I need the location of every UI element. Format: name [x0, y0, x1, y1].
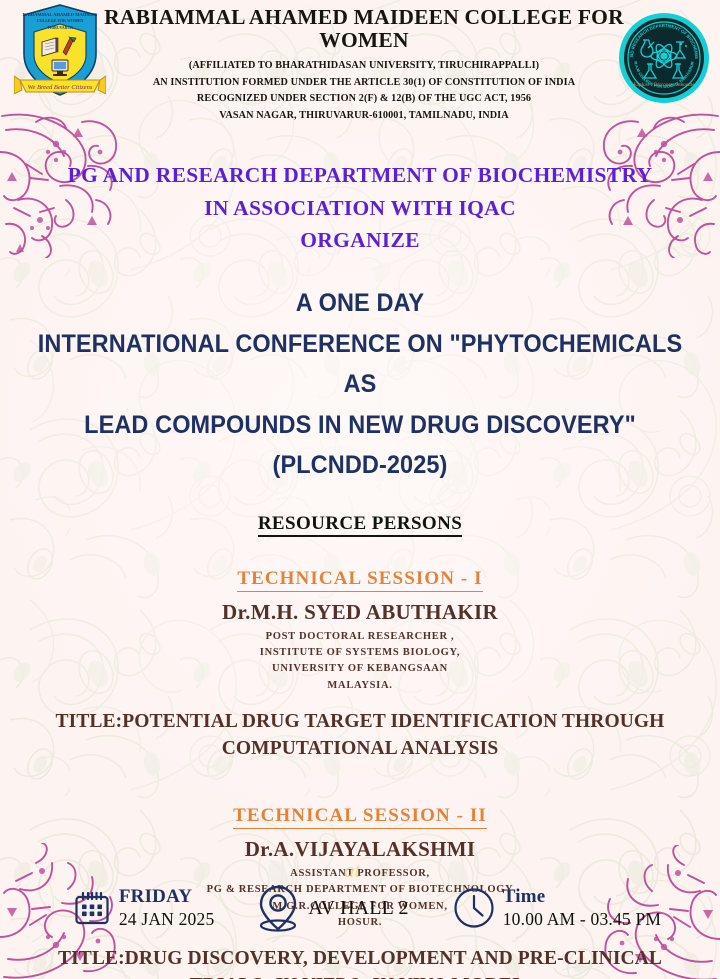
resource-persons-heading-text: RESOURCE PERSONS	[258, 513, 462, 537]
conference-title-block: A ONE DAY INTERNATIONAL CONFERENCE ON "P…	[22, 283, 699, 486]
session-2-label: TECHNICAL SESSION - II	[233, 805, 487, 829]
session-1-title-line-1: TITLE:POTENTIAL DRUG TARGET IDENTIFICATI…	[28, 709, 692, 736]
footer-date-value: 24 JAN 2025	[119, 910, 215, 929]
session-1-affiliation-line-4: MALAYSIA.	[0, 678, 720, 694]
calendar-icon	[73, 889, 111, 927]
college-name: RABIAMMAL AHAMED MAIDEEN COLLEGE FOR WOM…	[104, 6, 624, 51]
college-affiliation-lines: (AFFILIATED TO BHARATHIDASAN UNIVERSITY,…	[100, 58, 628, 124]
footer-day-label: FRIDAY	[119, 887, 215, 908]
location-pin-icon	[256, 883, 300, 933]
technical-session-1: TECHNICAL SESSION - I Dr.M.H. SYED ABUTH…	[0, 568, 720, 695]
footer-date-text: FRIDAY 24 JAN 2025	[119, 887, 215, 929]
footer-time-value: 10.00 AM - 03.45 PM	[503, 910, 661, 929]
department-line-3: ORGANIZE	[0, 224, 720, 257]
svg-text:Explore . Discover . Innovate: Explore . Discover . Innovate	[633, 82, 696, 88]
poster-header: RABIAMMAL AHAMED MAIDEEN COLLEGE FOR WOM…	[0, 0, 720, 112]
session-2-title-line-2-post: MODEL.	[446, 975, 530, 979]
footer-date-item: FRIDAY 24 JAN 2025	[73, 887, 215, 929]
affiliation-line-1: (AFFILIATED TO BHARATHIDASAN UNIVERSITY,…	[100, 58, 628, 75]
session-2-speaker-name: Dr.A.VIJAYALAKSHMI	[0, 837, 720, 862]
session-1-affiliation: POST DOCTORAL RESEARCHER , INSTITUTE OF …	[0, 629, 720, 695]
biochemistry-department-seal-logo: PG AND RESEARCH DEPARTMENT OF BIOCHEMIST…	[618, 12, 710, 104]
conference-acronym: (PLCNDD-2025)	[22, 445, 699, 486]
svg-text:COLLEGE FOR WOMEN: COLLEGE FOR WOMEN	[37, 18, 84, 23]
footer-time-label: Time	[503, 887, 661, 908]
footer-venue-value: AV HALL 2	[308, 897, 408, 920]
college-crest-logo: RABIAMMAL AHAMED MAIDEEN COLLEGE FOR WOM…	[14, 2, 106, 102]
affiliation-line-4: VASAN NAGAR, THIRUVARUR-610001, TAMILNAD…	[100, 108, 628, 125]
conference-poster: RABIAMMAL AHAMED MAIDEEN COLLEGE FOR WOM…	[0, 0, 720, 979]
session-2-title-italic: IN VITRO, IN VIVO	[274, 975, 446, 979]
session-2-title: TITLE:DRUG DISCOVERY, DEVELOPMENT AND PR…	[28, 946, 692, 979]
conference-line-1: A ONE DAY	[22, 283, 699, 324]
footer-time-item: Time 10.00 AM - 03.45 PM	[453, 887, 661, 929]
footer-venue-item: AV HALL 2	[256, 883, 408, 933]
conference-line-3: LEAD COMPOUNDS IN NEW DRUG DISCOVERY"	[22, 405, 699, 446]
conference-line-2: INTERNATIONAL CONFERENCE ON "PHYTOCHEMIC…	[22, 324, 699, 405]
affiliation-line-2: AN INSTITUTION FORMED UNDER THE ARTICLE …	[100, 75, 628, 92]
department-block: PG AND RESEARCH DEPARTMENT OF BIOCHEMIST…	[0, 159, 720, 257]
session-2-title-line-1: TITLE:DRUG DISCOVERY, DEVELOPMENT AND PR…	[28, 946, 692, 973]
affiliation-line-3: RECOGNIZED UNDER SECTION 2(F) & 12(B) OF…	[100, 91, 628, 108]
department-line-1: PG AND RESEARCH DEPARTMENT OF BIOCHEMIST…	[0, 159, 720, 192]
svg-text:THIRUVARUR: THIRUVARUR	[47, 26, 73, 30]
session-1-affiliation-line-3: UNIVERSITY OF KEBANGSAAN	[0, 661, 720, 677]
session-1-label: TECHNICAL SESSION - I	[237, 568, 482, 592]
session-1-title-line-2: COMPUTATIONAL ANALYSIS	[28, 736, 692, 763]
clock-icon	[453, 887, 495, 929]
resource-persons-heading: RESOURCE PERSONS	[0, 513, 720, 535]
session-1-affiliation-line-1: POST DOCTORAL RESEARCHER ,	[0, 629, 720, 645]
session-1-affiliation-line-2: INSTITUTE OF SYSTEMS BIOLOGY,	[0, 645, 720, 661]
session-1-speaker-name: Dr.M.H. SYED ABUTHAKIR	[0, 600, 720, 625]
svg-text:We Breed Better Citizens: We Breed Better Citizens	[28, 84, 93, 91]
session-2-title-line-2: TRIALS- IN VITRO, IN VIVO MODEL.	[28, 973, 692, 979]
svg-text:RABIAMMAL AHAMED MAIDEEN: RABIAMMAL AHAMED MAIDEEN	[23, 12, 98, 17]
poster-footer: FRIDAY 24 JAN 2025 AV HALL 2 Time 10.00 …	[0, 875, 720, 941]
footer-time-text: Time 10.00 AM - 03.45 PM	[503, 887, 661, 929]
session-2-title-line-2-pre: TRIALS-	[190, 975, 275, 979]
department-line-2: IN ASSOCIATION WITH IQAC	[0, 192, 720, 225]
session-1-title: TITLE:POTENTIAL DRUG TARGET IDENTIFICATI…	[28, 709, 692, 763]
